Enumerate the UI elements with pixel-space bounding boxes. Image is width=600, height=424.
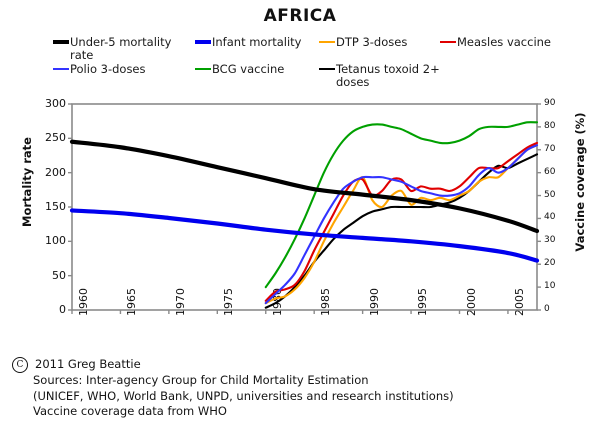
caption-line-1: C 2011 Greg Beattie <box>12 357 592 373</box>
series-line-bcg-vaccine <box>266 122 537 287</box>
copyright-icon: C <box>12 357 28 373</box>
caption-line-2: Sources: Inter-agency Group for Child Mo… <box>33 373 592 389</box>
caption-line-3: (UNICEF, WHO, World Bank, UNPD, universi… <box>33 389 592 405</box>
caption-author: 2011 Greg Beattie <box>35 357 141 373</box>
chart-figure: AFRICA Under-5 mortality rate Infant mor… <box>0 0 600 424</box>
caption-line-4: Vaccine coverage data from WHO <box>33 404 592 420</box>
figure-caption: C 2011 Greg Beattie Sources: Inter-agenc… <box>12 357 592 420</box>
